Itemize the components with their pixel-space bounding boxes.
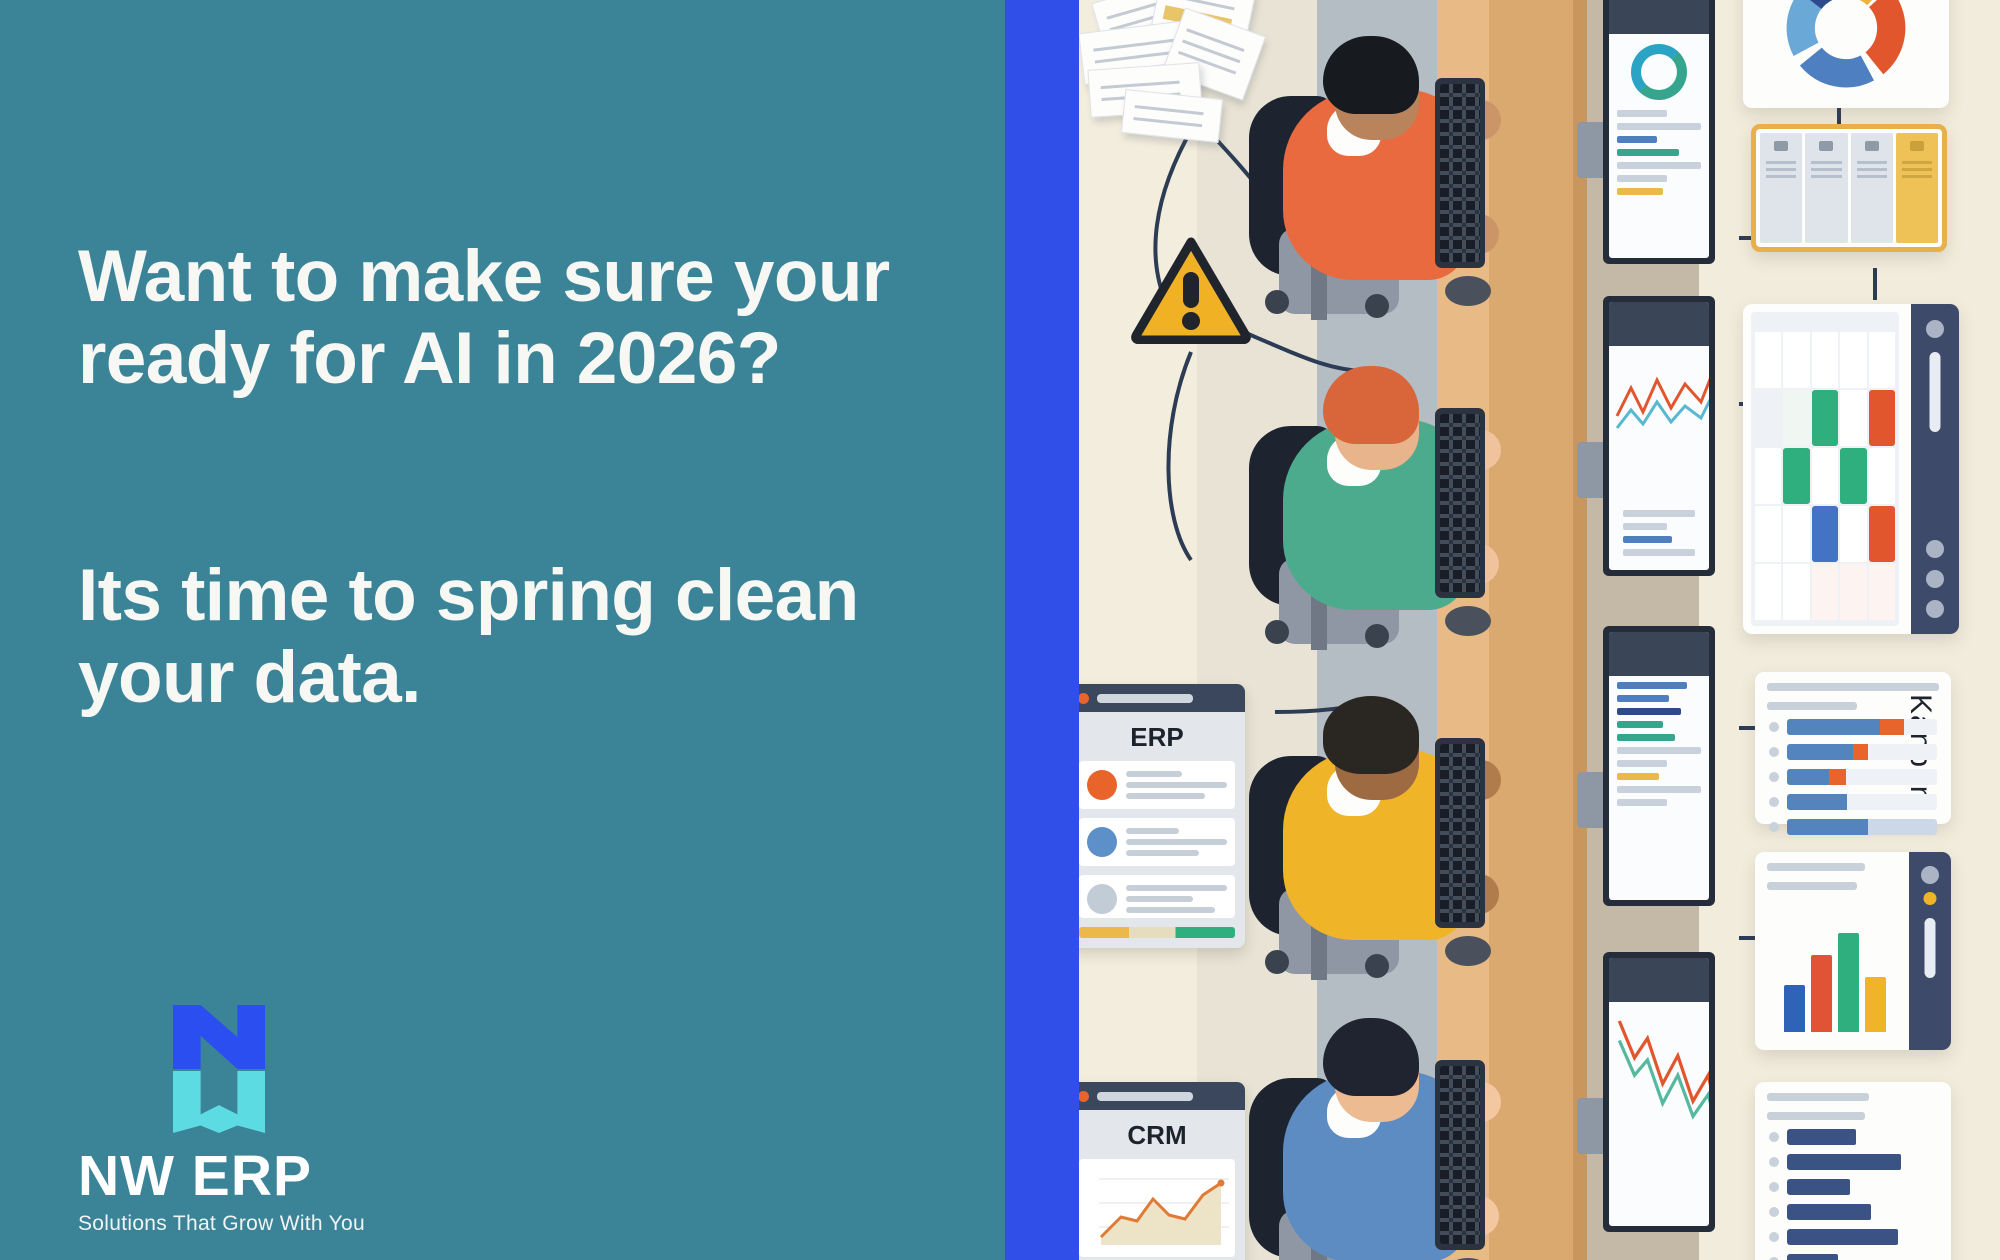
chair-wheel [1365, 294, 1389, 318]
erp-titlebar [1079, 684, 1245, 712]
device-indicator-icon [1924, 892, 1937, 905]
folder-columns-card[interactable] [1751, 124, 1947, 252]
bar-dot-icon [1769, 1207, 1779, 1217]
chair-wheel [1265, 290, 1289, 314]
erp-row-text [1126, 885, 1227, 913]
column-bar [1811, 955, 1832, 1032]
bar-row [1769, 819, 1937, 835]
erp-row-avatar [1087, 770, 1117, 800]
keyboard[interactable] [1435, 78, 1485, 268]
folder-column[interactable] [1760, 133, 1802, 243]
device-bezel [1909, 852, 1951, 1050]
worker-station-4 [1239, 1000, 1539, 1260]
bar-dot-icon [1769, 722, 1779, 732]
screen-header [1609, 632, 1709, 676]
board-card-orange[interactable] [1869, 506, 1895, 562]
keyboard[interactable] [1435, 408, 1485, 598]
folder-column[interactable] [1851, 133, 1893, 243]
card-title-bar [1767, 683, 1939, 691]
erp-row-avatar [1087, 827, 1117, 857]
bar-row [1769, 1179, 1937, 1195]
erp-progress-bar [1079, 927, 1235, 938]
bar-row [1769, 744, 1937, 760]
keyboard[interactable] [1435, 1060, 1485, 1250]
logo-w-shape-icon [173, 1071, 265, 1133]
logo-wordmark: NW ERP [78, 1143, 378, 1209]
screen-header [1609, 0, 1709, 34]
card-title-bar [1767, 1093, 1869, 1101]
erp-app-panel[interactable]: ERP [1079, 684, 1245, 948]
erp-row-text [1126, 771, 1227, 799]
bar-dot-icon [1769, 797, 1779, 807]
accent-divider-bar [1005, 0, 1079, 1260]
erp-row-avatar [1087, 884, 1117, 914]
keyboard[interactable] [1435, 738, 1485, 928]
worker-hair [1323, 36, 1419, 114]
device-camera-icon [1921, 866, 1939, 884]
bar-row [1769, 794, 1937, 810]
bar-dot-icon [1769, 772, 1779, 782]
worker-hair [1323, 696, 1419, 774]
erp-list-row[interactable] [1079, 875, 1235, 918]
bar-row [1769, 1154, 1937, 1170]
folder-column[interactable] [1805, 133, 1847, 243]
left-text-panel: Want to make sure your ready for AI in 2… [0, 0, 1005, 1260]
bar-row [1769, 719, 1937, 735]
kanban-bar-card[interactable]: Kanban [1755, 672, 1951, 824]
warning-triangle-icon [1131, 236, 1251, 344]
column-bar [1865, 977, 1886, 1032]
worker-station-1 [1239, 18, 1539, 318]
chair-wheel [1265, 950, 1289, 974]
bar-dot-icon [1769, 1182, 1779, 1192]
bar-row [1769, 769, 1937, 785]
monitor-1-screen [1609, 0, 1709, 258]
tablet-camera-icon [1926, 320, 1944, 338]
line-chart-widget [1615, 354, 1709, 444]
card-title-bar [1767, 882, 1857, 890]
headline-primary: Want to make sure your ready for AI in 2… [78, 236, 958, 400]
board-card-blue[interactable] [1812, 506, 1838, 562]
bar-dot-icon [1769, 1157, 1779, 1167]
board-card-green[interactable] [1783, 448, 1809, 504]
poster-canvas: Want to make sure your ready for AI in 2… [0, 0, 2000, 1260]
folder-column-highlighted[interactable] [1896, 133, 1938, 243]
erp-address-stub [1097, 694, 1193, 703]
erp-panel-title: ERP [1079, 712, 1245, 761]
monitor-3-screen [1609, 632, 1709, 900]
chair-wheel [1365, 954, 1389, 978]
board-card-green[interactable] [1840, 448, 1866, 504]
navy-bars-card[interactable] [1755, 1082, 1951, 1260]
worker-hair [1323, 1018, 1419, 1096]
worker-station-2 [1239, 348, 1539, 648]
erp-close-dot-icon[interactable] [1079, 693, 1089, 704]
tablet-button[interactable] [1926, 540, 1944, 558]
erp-row-text [1126, 828, 1227, 856]
logo-tagline: Solutions That Grow With You [78, 1212, 378, 1236]
screen-header [1609, 958, 1709, 1002]
donut-chart-icon [1780, 0, 1912, 94]
card-title-bar [1767, 702, 1857, 710]
tablet-button[interactable] [1926, 600, 1944, 618]
bar-row [1769, 1204, 1937, 1220]
monitor-1[interactable] [1603, 0, 1715, 264]
card-title-bar [1767, 1112, 1865, 1120]
brand-logo: NW ERP Solutions That Grow With You [78, 1005, 378, 1236]
tablet-button[interactable] [1926, 570, 1944, 588]
worker-hair [1323, 366, 1419, 444]
card-title-bar [1767, 863, 1865, 871]
board-card-orange[interactable] [1869, 390, 1895, 446]
board-card-green[interactable] [1812, 390, 1838, 446]
chair-wheel [1265, 620, 1289, 644]
chair-wheel [1365, 624, 1389, 648]
monitor-2[interactable] [1603, 296, 1715, 576]
tablet-bezel [1911, 304, 1959, 634]
monitor-4[interactable] [1603, 952, 1715, 1232]
crm-app-panel[interactable]: CRM [1079, 1082, 1245, 1260]
column-chart [1781, 908, 1889, 1032]
device-speaker-slot [1925, 918, 1936, 978]
erp-list-row[interactable] [1079, 818, 1235, 866]
bar-dot-icon [1769, 822, 1779, 832]
bar-dot-icon [1769, 747, 1779, 757]
mouse[interactable] [1445, 276, 1491, 306]
monitor-3[interactable] [1603, 626, 1715, 906]
screen-header [1609, 302, 1709, 346]
bar-row [1769, 1229, 1937, 1245]
crm-close-dot-icon[interactable] [1079, 1091, 1089, 1102]
bar-dot-icon [1769, 1232, 1779, 1242]
erp-list-row[interactable] [1079, 761, 1235, 809]
column-bar [1838, 933, 1859, 1032]
bar-dot-icon [1769, 1132, 1779, 1142]
donut-chart-widget-icon [1631, 44, 1687, 100]
bar-row [1769, 1129, 1937, 1145]
crm-address-stub [1097, 1092, 1193, 1101]
monitor-2-screen [1609, 302, 1709, 570]
tablet-board-card[interactable] [1743, 304, 1959, 634]
mouse[interactable] [1445, 936, 1491, 966]
worker-station-3 [1239, 678, 1539, 978]
column-chart-card[interactable] [1755, 852, 1951, 1050]
crm-titlebar [1079, 1082, 1245, 1110]
logo-n-shape-icon [173, 1005, 265, 1069]
tablet-speaker-slot [1930, 352, 1941, 432]
bar-row [1769, 1254, 1937, 1260]
headline-secondary: Its time to spring clean your data. [78, 555, 978, 719]
mouse[interactable] [1445, 606, 1491, 636]
crm-panel-title: CRM [1079, 1110, 1245, 1159]
office-illustration: ERP [1079, 0, 2000, 1260]
donut-chart-card[interactable] [1743, 0, 1949, 108]
column-bar [1784, 985, 1805, 1032]
logo-monogram-icon [173, 1005, 265, 1133]
crm-trend-chart [1079, 1159, 1235, 1257]
monitor-4-screen [1609, 958, 1709, 1226]
line-chart-widget [1615, 1008, 1709, 1138]
